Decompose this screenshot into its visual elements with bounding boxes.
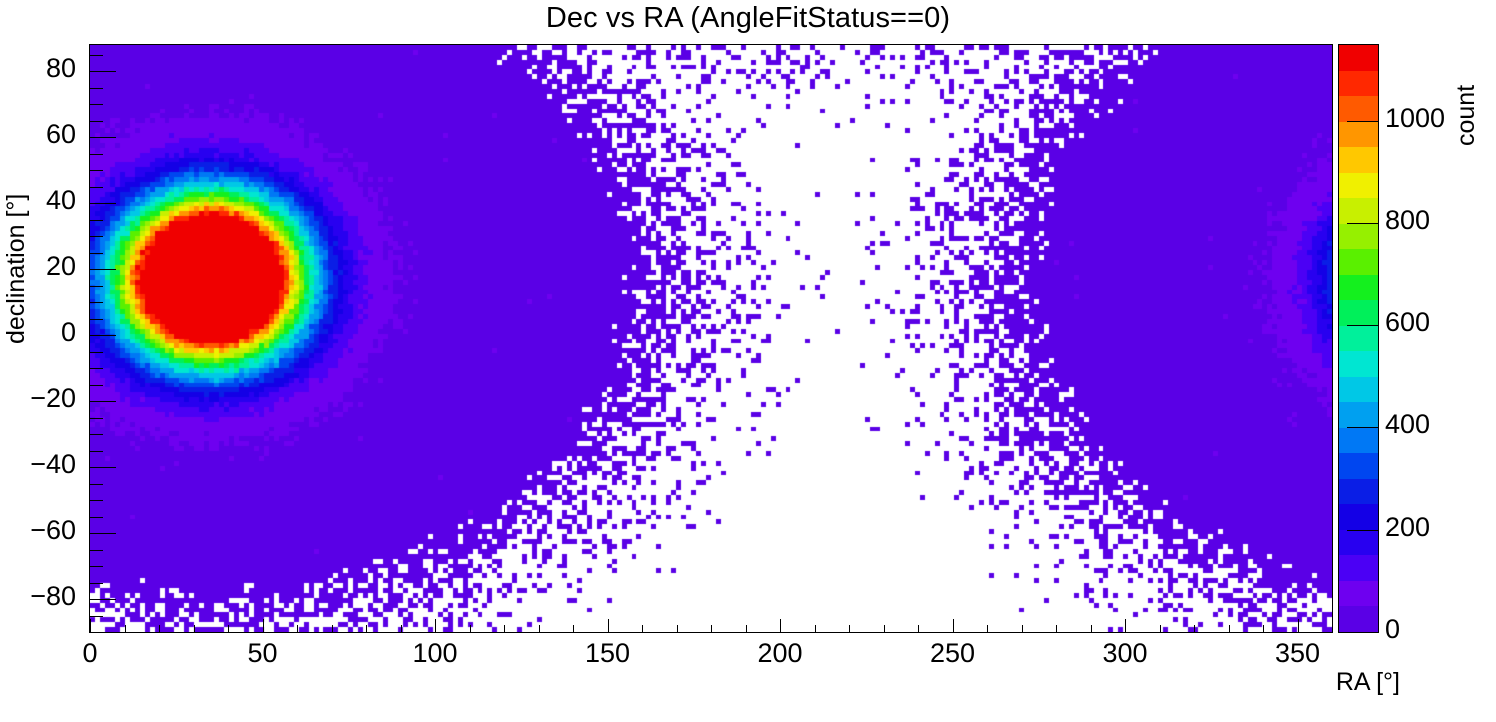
x-tick-label: 350 [1238, 638, 1358, 669]
color-band [1339, 377, 1378, 403]
color-band [1339, 122, 1378, 148]
x-tick-minor [228, 625, 229, 632]
color-band [1339, 173, 1378, 199]
plot-canvas: Dec vs RA (AngleFitStatus==0) 0501001502… [0, 0, 1496, 722]
color-scale-title: count [1452, 85, 1481, 146]
x-tick-label: 150 [548, 638, 668, 669]
x-tick-major [263, 619, 264, 632]
y-tick-minor [90, 418, 103, 419]
x-tick-label: 250 [893, 638, 1013, 669]
color-band [1339, 275, 1378, 301]
y-tick-minor [90, 104, 103, 105]
color-band [1339, 581, 1378, 607]
x-tick-minor [849, 625, 850, 632]
color-band [1339, 402, 1378, 428]
color-band [1339, 530, 1378, 556]
color-tick-label: 400 [1385, 409, 1430, 440]
color-band [1339, 198, 1378, 224]
x-tick-major [90, 619, 91, 632]
color-scale-bar [1338, 44, 1379, 633]
x-tick-minor [194, 625, 195, 632]
y-tick-minor [90, 616, 103, 617]
x-tick-major [780, 619, 781, 632]
color-band [1339, 504, 1378, 530]
color-tick [1347, 427, 1379, 428]
x-tick-minor [297, 625, 298, 632]
y-tick-minor [90, 566, 103, 567]
color-tick [1347, 530, 1379, 531]
color-band [1339, 326, 1378, 352]
x-tick-minor [159, 625, 160, 632]
y-tick-label: 60 [0, 119, 76, 150]
y-tick-minor [90, 484, 103, 485]
x-tick-minor [1194, 625, 1195, 632]
x-tick-minor [1022, 625, 1023, 632]
y-tick-major [90, 533, 116, 534]
x-tick-minor [1263, 625, 1264, 632]
x-tick-label: 300 [1065, 638, 1185, 669]
color-tick-label: 600 [1385, 307, 1430, 338]
y-tick-label: 80 [0, 53, 76, 84]
color-band [1339, 300, 1378, 326]
y-tick-major [90, 467, 116, 468]
x-tick-minor [815, 625, 816, 632]
x-tick-label: 0 [30, 638, 150, 669]
y-tick-label: −80 [0, 581, 76, 612]
y-tick-minor [90, 55, 103, 56]
color-tick-label: 0 [1385, 614, 1400, 645]
y-tick-label: −20 [0, 383, 76, 414]
x-tick-minor [1160, 625, 1161, 632]
x-tick-label: 200 [720, 638, 840, 669]
color-tick [1347, 223, 1379, 224]
color-tick-label: 200 [1385, 512, 1430, 543]
y-tick-label: −40 [0, 449, 76, 480]
color-band [1339, 428, 1378, 454]
y-tick-minor [90, 517, 103, 518]
x-tick-minor [677, 625, 678, 632]
color-tick [1347, 325, 1379, 326]
x-tick-minor [332, 625, 333, 632]
color-band [1339, 45, 1378, 71]
color-band [1339, 606, 1378, 632]
x-tick-minor [504, 625, 505, 632]
x-tick-minor [1229, 625, 1230, 632]
color-band [1339, 71, 1378, 97]
x-tick-minor [366, 625, 367, 632]
x-tick-minor [1056, 625, 1057, 632]
x-tick-minor [711, 625, 712, 632]
x-tick-major [435, 619, 436, 632]
x-tick-minor [987, 625, 988, 632]
color-band [1339, 249, 1378, 275]
y-axis-title: declination [°] [2, 194, 302, 344]
x-tick-minor [884, 625, 885, 632]
color-tick [1347, 121, 1379, 122]
color-tick-label: 1000 [1385, 103, 1445, 134]
y-tick-minor [90, 451, 103, 452]
x-tick-minor [401, 625, 402, 632]
y-tick-minor [90, 385, 103, 386]
color-band [1339, 224, 1378, 250]
x-tick-label: 50 [203, 638, 323, 669]
color-band [1339, 96, 1378, 122]
x-tick-minor [125, 625, 126, 632]
y-tick-minor [90, 500, 103, 501]
x-tick-minor [918, 625, 919, 632]
x-tick-minor [1091, 625, 1092, 632]
y-tick-minor [90, 170, 103, 171]
x-tick-minor [642, 625, 643, 632]
x-axis-title: RA [°] [1336, 668, 1400, 697]
y-tick-minor [90, 583, 103, 584]
y-tick-major [90, 401, 116, 402]
y-tick-minor [90, 121, 103, 122]
x-tick-major [608, 619, 609, 632]
x-tick-label: 100 [375, 638, 495, 669]
y-tick-minor [90, 187, 103, 188]
page-title: Dec vs RA (AngleFitStatus==0) [0, 2, 1496, 35]
y-tick-major [90, 137, 116, 138]
color-band [1339, 555, 1378, 581]
x-tick-minor [1332, 625, 1333, 632]
y-tick-minor [90, 368, 103, 369]
x-tick-major [1298, 619, 1299, 632]
y-tick-minor [90, 434, 103, 435]
y-tick-minor [90, 154, 103, 155]
color-band [1339, 479, 1378, 505]
y-tick-minor [90, 550, 103, 551]
color-band [1339, 351, 1378, 377]
x-tick-minor [470, 625, 471, 632]
y-tick-major [90, 599, 116, 600]
y-tick-major [90, 71, 116, 72]
x-tick-minor [573, 625, 574, 632]
y-tick-minor [90, 632, 103, 633]
y-tick-label: −60 [0, 515, 76, 546]
color-tick-label: 800 [1385, 205, 1430, 236]
x-tick-minor [539, 625, 540, 632]
y-tick-minor [90, 88, 103, 89]
y-tick-minor [90, 352, 103, 353]
x-tick-major [953, 619, 954, 632]
x-tick-minor [746, 625, 747, 632]
color-band [1339, 147, 1378, 173]
x-tick-major [1125, 619, 1126, 632]
color-band [1339, 453, 1378, 479]
